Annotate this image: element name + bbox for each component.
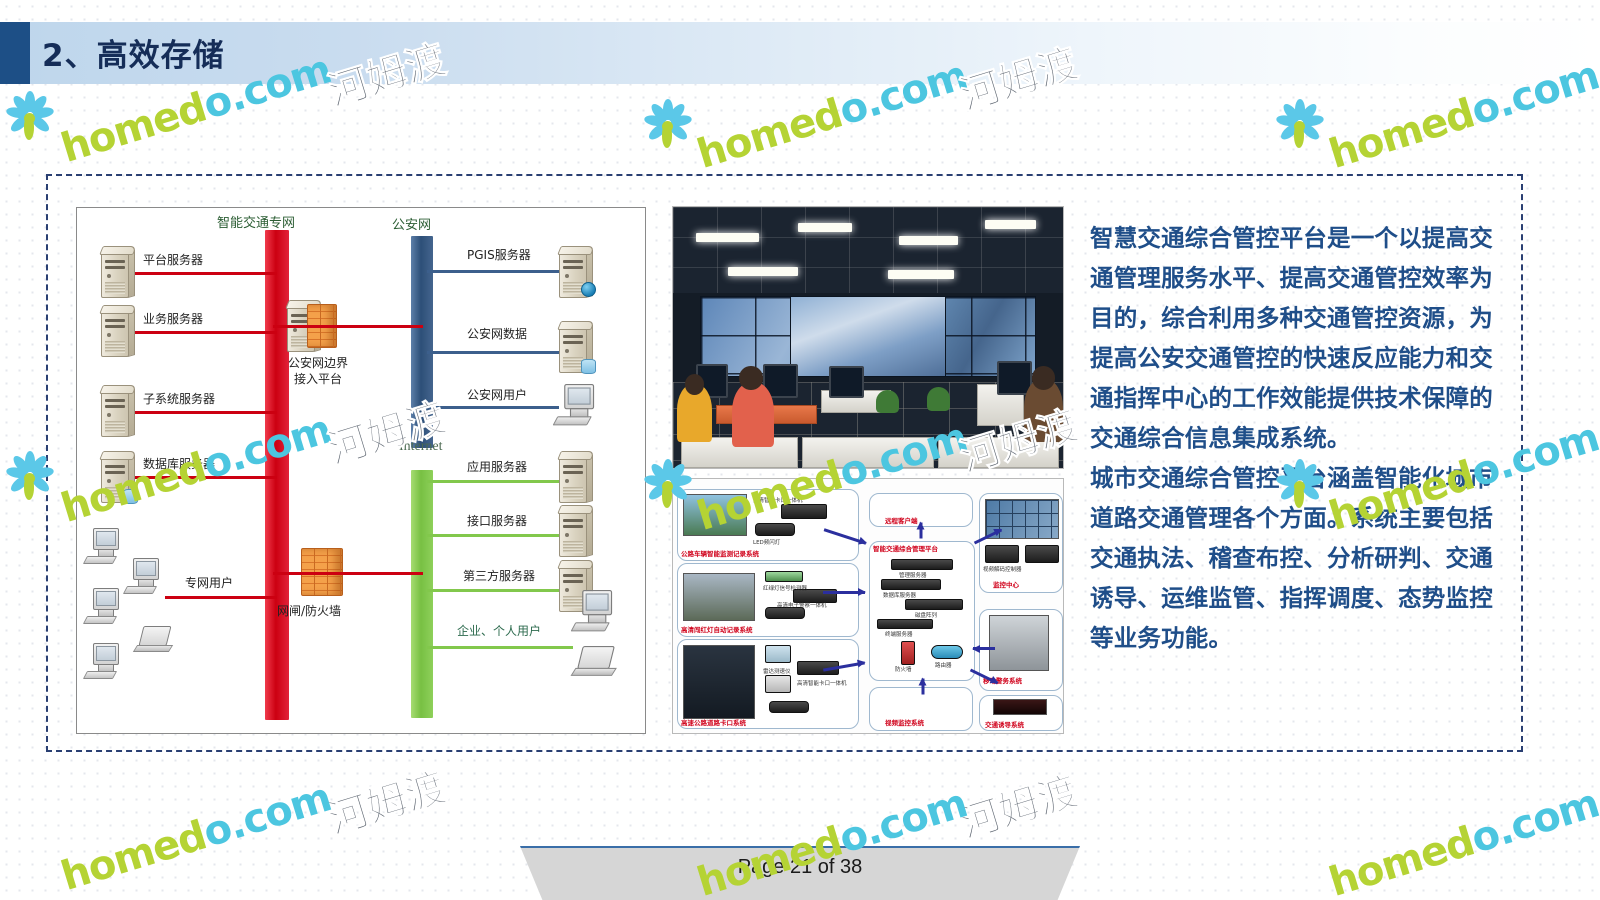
- globe-badge-icon: [581, 282, 596, 297]
- arch-photo-vms-board: [993, 699, 1047, 715]
- arch-device-camera: [781, 504, 827, 519]
- description-panel: 智慧交通综合管控平台是一个以提高交通管理服务水平、提高交通管控效率为目的，综合利…: [1090, 218, 1510, 658]
- photo-ceiling-light: [888, 270, 954, 279]
- label-database-server: 数据库服务器: [143, 455, 215, 472]
- label-ps-network-user: 公安网用户: [467, 386, 527, 403]
- network-label-internet: Internet: [399, 439, 443, 455]
- label-ps-border-access-line1: 公安网边界: [273, 354, 363, 371]
- network-label-intelligent-transport: 智能交通专网: [217, 212, 295, 231]
- wire-interface: [427, 534, 559, 537]
- flower-logo-icon: [1272, 100, 1326, 154]
- laptop-icon-personal-user: [573, 646, 617, 678]
- system-architecture-image: 高清智能卡口一体机 LED频闪灯 公路车辆智能监测记录系统 红绿灯信号检测器 高…: [672, 478, 1064, 734]
- arch-device-led-flash: [769, 701, 809, 713]
- watermark-text-cn: 河姆渡: [952, 759, 1084, 850]
- label-ps-network-data: 公安网数据: [467, 325, 527, 342]
- photo-ceiling-light: [696, 233, 758, 242]
- pc-icon-enterprise-user: [573, 590, 624, 634]
- wire-border-access: [273, 325, 423, 328]
- control-room-photo: [672, 206, 1064, 469]
- wire-application: [427, 480, 559, 483]
- arch-system-label-vehicle-monitor: 公路车辆智能监测记录系统: [681, 548, 759, 558]
- wire-subsystem: [135, 411, 277, 414]
- arch-photo-redlight: [683, 573, 755, 621]
- pc-icon-private-user-4: [85, 643, 129, 681]
- pc-icon-ps-user: [555, 384, 606, 428]
- network-topology-diagram: 智能交通专网 公安网 Internet 平台服务器 业务服务器 子系统服务器: [76, 207, 646, 734]
- label-platform-server: 平台服务器: [143, 251, 203, 268]
- arch-photo-vehicle: [683, 494, 747, 536]
- pc-icon-private-user-1: [85, 528, 129, 566]
- photo-operator-monitor: [829, 366, 864, 397]
- label-interface-server: 接口服务器: [467, 512, 527, 529]
- arch-device-video-decoder: [985, 545, 1019, 563]
- photo-person-head: [739, 366, 762, 389]
- wire-ps-user: [427, 406, 559, 409]
- photo-ceiling-light: [798, 223, 853, 232]
- arch-device-label: 终端服务器: [885, 630, 913, 638]
- arch-device-label: 高清智能卡口一体机: [797, 679, 847, 687]
- photo-desk: [802, 437, 935, 468]
- photo-ceiling-light: [899, 236, 958, 245]
- wire-pgis: [427, 270, 559, 273]
- wire-platform: [135, 272, 277, 275]
- photo-ceiling-light: [728, 267, 798, 276]
- wire-enterprise-personal: [427, 646, 573, 649]
- title-banner: [0, 22, 1600, 84]
- title-accent-block: [0, 22, 30, 84]
- arch-system-label-monitor-center: 监控中心: [993, 579, 1019, 589]
- arch-photo-highway: [683, 645, 755, 719]
- page-indicator: Page 21 of 38: [520, 856, 1080, 879]
- arch-device-led-flash: [755, 523, 795, 536]
- description-paragraph-2: 城市交通综合管控平台涵盖智能化城市道路交通管理各个方面。系统主要包括交通执法、稽…: [1090, 458, 1510, 658]
- arch-device-firewall: [901, 641, 915, 665]
- flower-logo-icon: [640, 100, 694, 154]
- wire-gateway: [273, 572, 423, 575]
- arch-device-label: LED频闪灯: [753, 538, 780, 546]
- label-business-server: 业务服务器: [143, 310, 203, 327]
- photo-plant: [876, 390, 899, 413]
- server-icon-subsystem: [97, 385, 135, 439]
- arch-arrow: [823, 591, 865, 594]
- wire-database: [135, 476, 277, 479]
- label-subsystem-server: 子系统服务器: [143, 390, 215, 407]
- server-icon-interface: [555, 505, 593, 559]
- label-gateway-firewall: 网闸/防火墙: [277, 602, 341, 619]
- arch-arrow: [922, 679, 925, 695]
- watermark-text-homedo: homedo.com: [56, 774, 336, 900]
- arch-device-management-server: [891, 559, 953, 570]
- arch-device-label: 红绿灯信号检测器: [763, 584, 807, 592]
- server-icon-application: [555, 451, 593, 505]
- photo-video-wall-center: [790, 296, 946, 377]
- flower-logo-icon: [2, 92, 56, 146]
- pc-icon-private-user-3: [85, 588, 129, 626]
- label-third-party-server: 第三方服务器: [463, 567, 535, 584]
- arch-device-label: 高清智能卡口一体机: [753, 496, 803, 504]
- arch-system-label-highway-checkpoint: 高速公路道路卡口系统: [681, 717, 746, 727]
- arch-system-label-redlight: 高清闯红灯自动记录系统: [681, 624, 753, 634]
- server-icon-ps-data: [555, 321, 593, 375]
- pc-icon-private-user-2: [125, 558, 169, 596]
- label-pgis-server: PGIS服务器: [467, 246, 531, 263]
- arch-device-terminal-server: [877, 619, 933, 629]
- wire-third-party: [427, 589, 559, 592]
- watermark-text-cn: 河姆渡: [320, 755, 452, 846]
- arch-arrow: [973, 647, 995, 650]
- arch-device-label: 视频解码控制器: [983, 565, 1022, 573]
- network-bar-internet: [411, 470, 433, 718]
- arch-device-label: 雷达测速仪: [763, 667, 791, 675]
- watermark-text-homedo: homedo.com: [1324, 780, 1600, 900]
- arch-device-label: 路由器: [935, 661, 952, 669]
- laptop-icon-private-user: [135, 626, 173, 654]
- arch-device-router: [931, 645, 963, 659]
- server-icon-business: [97, 305, 135, 359]
- arch-device-label: 磁盘阵列: [915, 611, 937, 619]
- server-icon-platform: [97, 246, 135, 300]
- label-application-server: 应用服务器: [467, 458, 527, 475]
- arch-photo-mobile-unit: [989, 615, 1049, 671]
- arch-system-label-traffic-guidance: 交通诱导系统: [985, 719, 1024, 729]
- photo-person-head: [1032, 366, 1055, 389]
- database-badge-icon: [123, 489, 138, 504]
- arch-arrow: [920, 523, 923, 539]
- label-ps-border-access-line2: 接入平台: [273, 370, 363, 387]
- description-paragraph-1: 智慧交通综合管控平台是一个以提高交通管理服务水平、提高交通管控效率为目的，综合利…: [1090, 218, 1510, 458]
- network-label-public-security: 公安网: [392, 214, 431, 233]
- arch-device-label: 数据库服务器: [883, 591, 916, 599]
- arch-device-signal-detector: [765, 571, 803, 582]
- photo-plant: [927, 387, 950, 410]
- wire-ps-data: [427, 351, 559, 354]
- network-bar-public-security: [411, 236, 433, 448]
- arch-device-db-server: [881, 579, 941, 590]
- label-enterprise-personal-user: 企业、个人用户: [457, 622, 541, 639]
- slide-canvas: 2、高效存储 智能交通专网 公安网 Internet 平台服务器 业务服务器: [0, 0, 1600, 900]
- arch-device-radar: [765, 675, 791, 693]
- wire-business: [135, 331, 277, 334]
- arch-device-central-decoder: [1025, 545, 1059, 563]
- photo-ceiling-light: [985, 220, 1036, 229]
- arch-device-label: 防火墙: [895, 665, 912, 673]
- arch-system-label-remote-client: 远程客户端: [885, 515, 918, 525]
- page-title: 2、高效存储: [42, 30, 225, 75]
- arch-device-flash: [765, 645, 791, 663]
- server-icon-pgis: [555, 246, 593, 300]
- arch-device-disk-array: [905, 599, 963, 610]
- arch-system-label-video-surveillance: 视频监控系统: [885, 717, 924, 727]
- arch-device-label: 高清电子警察一体机: [777, 601, 827, 609]
- photo-person-head: [685, 374, 705, 395]
- wire-private-users: [165, 596, 277, 599]
- server-icon-database: [97, 451, 135, 505]
- arch-device-label: 管理服务器: [899, 571, 927, 579]
- photo-person: [732, 382, 775, 447]
- arch-system-label-platform: 智能交通综合管理平台: [873, 543, 938, 553]
- database-badge-icon-ps: [581, 359, 596, 374]
- label-private-network-user: 专网用户: [185, 574, 233, 591]
